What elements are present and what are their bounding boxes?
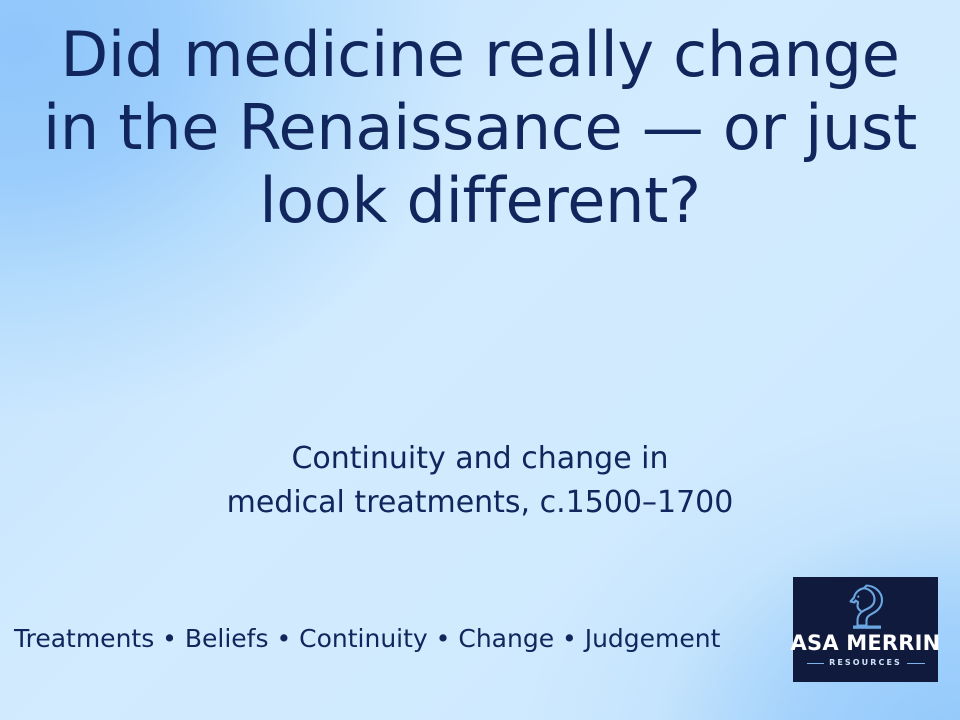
page-title: Did medicine really change in the Renais…	[40, 18, 920, 237]
logo-tagline: RESOURCES	[829, 659, 902, 667]
logo-tagline-row: RESOURCES	[807, 659, 925, 667]
page-subtitle: Continuity and change in medical treatme…	[40, 437, 920, 524]
knight-chess-piece-icon	[844, 584, 888, 630]
title-slide: Did medicine really change in the Renais…	[0, 0, 960, 720]
footer-keywords: Treatments • Beliefs • Continuity • Chan…	[14, 624, 720, 654]
logo-rule-right	[907, 663, 925, 664]
logo-rule-left	[807, 663, 825, 664]
logo: ASA MERRIN RESOURCES	[793, 577, 938, 682]
title-block: Did medicine really change in the Renais…	[40, 18, 920, 237]
logo-wordmark: ASA MERRIN	[791, 633, 941, 654]
subtitle-block: Continuity and change in medical treatme…	[40, 437, 920, 524]
